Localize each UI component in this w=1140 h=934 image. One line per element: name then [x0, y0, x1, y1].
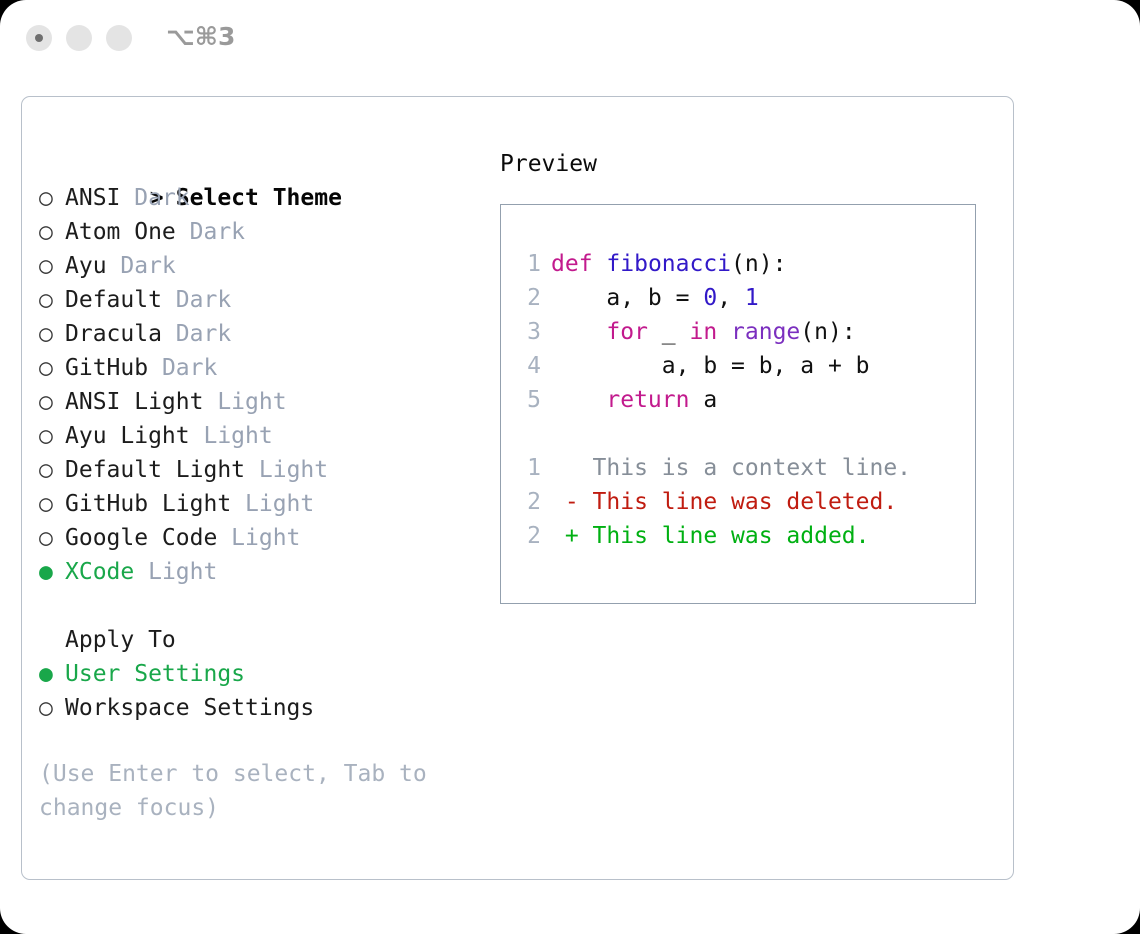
apply-to-header: Apply To: [39, 623, 489, 657]
theme-list-item[interactable]: ○Default Dark: [39, 283, 489, 317]
theme-list-item[interactable]: ○ANSI Light Light: [39, 385, 489, 419]
code-token: [717, 319, 731, 345]
code-token: [551, 387, 606, 413]
diff-text: - This line was deleted.: [551, 489, 897, 515]
apply-to-list: ●User Settings○Workspace Settings: [39, 657, 489, 725]
radio-unselected-icon: ○: [39, 691, 65, 725]
code-token: _: [648, 319, 690, 345]
apply-to-label: Workspace Settings: [65, 695, 314, 721]
theme-picker-column: >Select Theme ○ANSI Dark○Atom One Dark○A…: [39, 147, 489, 825]
radio-unselected-icon: ○: [39, 283, 65, 317]
select-theme-header: >Select Theme: [39, 147, 489, 181]
main-panel: >Select Theme ○ANSI Dark○Atom One Dark○A…: [21, 96, 1014, 880]
radio-unselected-icon: ○: [39, 521, 65, 555]
radio-unselected-icon: ○: [39, 487, 65, 521]
line-number: 1: [513, 451, 541, 485]
line-number: 3: [513, 315, 541, 349]
code-token: ,: [717, 285, 745, 311]
code-preview: 1def fibonacci(n):2 a, b = 0, 13 for _ i…: [513, 247, 969, 553]
code-token: a, b = b, a + b: [551, 353, 870, 379]
active-indicator-dot: [35, 34, 43, 42]
code-token: [593, 251, 607, 277]
radio-selected-icon: ●: [39, 657, 65, 691]
theme-list-item[interactable]: ○Google Code Light: [39, 521, 489, 555]
preview-title: Preview: [500, 147, 1000, 181]
apply-to-item[interactable]: ●User Settings: [39, 657, 489, 691]
theme-name: Ayu: [65, 253, 120, 279]
traffic-light-active[interactable]: [26, 25, 52, 51]
keyboard-shortcut-label: ⌥⌘3: [166, 22, 235, 51]
apply-to-label: User Settings: [65, 661, 245, 687]
diff-line: 2 + This line was added.: [513, 519, 969, 553]
code-token: in: [689, 319, 717, 345]
theme-list-item[interactable]: ○Ayu Light Light: [39, 419, 489, 453]
diff-text: This is a context line.: [551, 455, 911, 481]
radio-unselected-icon: ○: [39, 317, 65, 351]
radio-selected-icon: ●: [39, 555, 65, 589]
theme-list-item[interactable]: ○Ayu Dark: [39, 249, 489, 283]
theme-name: GitHub: [65, 355, 162, 381]
theme-name: Google Code: [65, 525, 231, 551]
code-token: a, b =: [551, 285, 703, 311]
line-number: 1: [513, 247, 541, 281]
theme-name: Default Light: [65, 457, 259, 483]
theme-name: XCode: [65, 559, 148, 585]
theme-list-item[interactable]: ○Dracula Dark: [39, 317, 489, 351]
apply-to-item[interactable]: ○Workspace Settings: [39, 691, 489, 725]
theme-variant-label: Light: [148, 559, 217, 585]
line-number: 5: [513, 383, 541, 417]
code-token: 0: [703, 285, 717, 311]
theme-variant-label: Light: [245, 491, 314, 517]
theme-variant-label: Dark: [176, 287, 231, 313]
radio-unselected-icon: ○: [39, 249, 65, 283]
line-number: 2: [513, 485, 541, 519]
section-spacer: [39, 589, 489, 623]
preview-box: 1def fibonacci(n):2 a, b = 0, 13 for _ i…: [500, 204, 976, 604]
code-token: a: [689, 387, 717, 413]
theme-variant-label: Dark: [134, 185, 189, 211]
theme-name: Dracula: [65, 321, 176, 347]
theme-variant-label: Light: [203, 423, 272, 449]
theme-variant-label: Light: [217, 389, 286, 415]
radio-unselected-icon: ○: [39, 351, 65, 385]
theme-list: ○ANSI Dark○Atom One Dark○Ayu Dark○Defaul…: [39, 181, 489, 589]
diff-text: + This line was added.: [551, 523, 870, 549]
code-token: def: [551, 251, 593, 277]
theme-variant-label: Dark: [120, 253, 175, 279]
theme-variant-label: Light: [231, 525, 300, 551]
code-token: return: [606, 387, 689, 413]
theme-variant-label: Dark: [162, 355, 217, 381]
line-number: 2: [513, 519, 541, 553]
theme-name: ANSI: [65, 185, 134, 211]
theme-name: ANSI Light: [65, 389, 217, 415]
theme-name: Ayu Light: [65, 423, 203, 449]
code-line: 2 a, b = 0, 1: [513, 281, 969, 315]
diff-line: 1 This is a context line.: [513, 451, 969, 485]
theme-list-item[interactable]: ●XCode Light: [39, 555, 489, 589]
theme-list-item[interactable]: ○GitHub Dark: [39, 351, 489, 385]
code-token: [551, 319, 606, 345]
keyboard-hint-text: (Use Enter to select, Tab to change focu…: [39, 757, 439, 825]
code-token: 1: [745, 285, 759, 311]
theme-name: GitHub Light: [65, 491, 245, 517]
code-line: 3 for _ in range(n):: [513, 315, 969, 349]
radio-unselected-icon: ○: [39, 419, 65, 453]
theme-variant-label: Dark: [190, 219, 245, 245]
theme-list-item[interactable]: ○Default Light Light: [39, 453, 489, 487]
code-token: (n):: [800, 319, 855, 345]
traffic-light-third[interactable]: [106, 25, 132, 51]
line-number: 4: [513, 349, 541, 383]
code-token: (n):: [731, 251, 786, 277]
code-line: 1def fibonacci(n):: [513, 247, 969, 281]
code-token: fibonacci: [606, 251, 731, 277]
app-window: ⌥⌘3 >Select Theme ○ANSI Dark○Atom One Da…: [0, 0, 1140, 934]
preview-column: Preview 1def fibonacci(n):2 a, b = 0, 13…: [500, 147, 1000, 604]
code-line: 4 a, b = b, a + b: [513, 349, 969, 383]
code-token: range: [731, 319, 800, 345]
select-theme-label: Select Theme: [176, 185, 342, 211]
traffic-light-second[interactable]: [66, 25, 92, 51]
radio-unselected-icon: ○: [39, 215, 65, 249]
code-line: 5 return a: [513, 383, 969, 417]
window-titlebar: ⌥⌘3: [0, 0, 1140, 78]
theme-variant-label: Light: [259, 457, 328, 483]
theme-variant-label: Dark: [176, 321, 231, 347]
diff-line: 2 - This line was deleted.: [513, 485, 969, 519]
theme-list-item[interactable]: ○GitHub Light Light: [39, 487, 489, 521]
theme-name: Default: [65, 287, 176, 313]
code-token: for: [606, 319, 648, 345]
preview-divider-space: [513, 417, 969, 451]
radio-unselected-icon: ○: [39, 385, 65, 419]
radio-unselected-icon: ○: [39, 453, 65, 487]
radio-unselected-icon: ○: [39, 181, 65, 215]
theme-name: Atom One: [65, 219, 190, 245]
line-number: 2: [513, 281, 541, 315]
theme-list-item[interactable]: ○Atom One Dark: [39, 215, 489, 249]
